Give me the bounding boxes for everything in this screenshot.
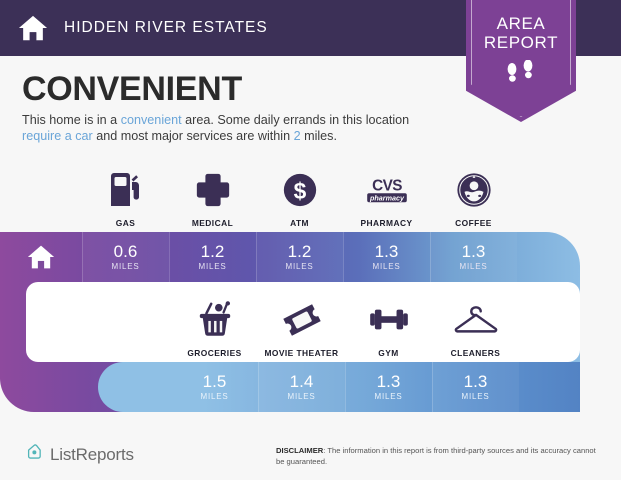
distance-unit: MILES [200,392,228,401]
property-title: HIDDEN RIVER ESTATES [64,19,268,37]
distance-value: 1.3 [377,373,401,391]
svg-text:pharmacy: pharmacy [369,193,405,202]
subtitle-part-4: miles. [301,129,337,143]
category-groceries: GROCERIES [171,296,258,358]
row2-icon-strip: GROCERIES MOVIE THEATER GYM [171,296,519,358]
atm-dollar-icon: $ [281,168,319,212]
subtitle-highlight-require-a-car: require a car [22,129,93,143]
subtitle-part-3: and most major services are within [93,129,294,143]
distance-value: 1.2 [288,243,312,261]
subtitle-text: This home is in a convenient area. Some … [22,112,442,144]
gas-pump-icon [107,168,145,212]
cvs-pharmacy-icon: CVS pharmacy [360,168,414,212]
disclaimer-text: : The information in this report is from… [276,446,596,466]
distance-value: 1.3 [464,373,488,391]
distance-cell-groceries: 1.5 MILES [171,362,258,412]
category-label: PHARMACY [361,218,413,228]
footprints-icon [466,60,576,91]
area-report-badge: AREA REPORT [466,0,576,122]
distance-unit: MILES [285,262,313,271]
category-coffee: COFFEE [430,160,517,228]
badge-line-1: AREA [466,14,576,33]
distance-value: 1.2 [201,243,225,261]
house-icon [27,243,55,271]
category-atm: $ ATM [256,160,343,228]
category-gym: GYM [345,296,432,358]
distance-cell-coffee: 1.3 MILES [430,232,517,282]
row1-distance-band: 0.6 MILES 1.2 MILES 1.2 MILES 1.3 MILES … [0,232,518,282]
disclaimer-label: DISCLAIMER [276,446,323,455]
starbucks-coffee-icon [455,168,493,212]
subtitle-part-2: area. Some daily errands in this locatio… [182,113,410,127]
distance-unit: MILES [198,262,226,271]
subtitle-part-1: This home is in a [22,113,121,127]
distance-unit: MILES [287,392,315,401]
category-label: GYM [378,348,398,358]
distance-value: 1.3 [375,243,399,261]
distance-value: 1.4 [290,373,314,391]
distance-cell-atm: 1.2 MILES [256,232,343,282]
subtitle-highlight-miles-number: 2 [294,129,301,143]
distance-unit: MILES [461,392,489,401]
distance-cell-movie-theater: 1.4 MILES [258,362,345,412]
distance-unit: MILES [111,262,139,271]
category-label: CLEANERS [451,348,501,358]
listreports-logo: ListReports [24,442,134,467]
distance-value: 1.3 [462,243,486,261]
category-label: GROCERIES [187,348,241,358]
distance-unit: MILES [374,392,402,401]
distance-cell-gym: 1.3 MILES [345,362,432,412]
category-medical: MEDICAL [169,160,256,228]
distance-cell-pharmacy: 1.3 MILES [343,232,430,282]
category-label: ATM [290,218,309,228]
distance-cell-gas: 0.6 MILES [82,232,169,282]
row2-distance-band: 1.5 MILES 1.4 MILES 1.3 MILES 1.3 MILES [171,362,519,412]
page-title: CONVENIENT [22,70,242,109]
distance-cell-medical: 1.2 MILES [169,232,256,282]
category-label: MOVIE THEATER [264,348,338,358]
distance-cell-cleaners: 1.3 MILES [432,362,519,412]
disclaimer: DISCLAIMER: The information in this repo… [276,446,596,467]
dumbbell-icon [367,298,411,342]
row1-icon-strip: GAS MEDICAL $ ATM CVS pharmacy PHARMACY [82,160,518,228]
category-movie-theater: MOVIE THEATER [258,296,345,358]
category-label: COFFEE [455,218,492,228]
category-gas: GAS [82,160,169,228]
svg-text:CVS: CVS [372,177,402,194]
subtitle-highlight-convenient: convenient [121,113,182,127]
category-label: MEDICAL [192,218,233,228]
listreports-logo-icon [24,442,44,467]
category-pharmacy: CVS pharmacy PHARMACY [343,160,430,228]
movie-ticket-icon [281,298,323,342]
medical-cross-icon [194,168,232,212]
distance-value: 0.6 [114,243,138,261]
distance-unit: MILES [459,262,487,271]
distance-value: 1.5 [203,373,227,391]
svg-text:$: $ [293,178,306,204]
clothes-hanger-icon [453,298,499,342]
house-icon [18,13,48,43]
home-origin-cell [0,232,82,282]
listreports-logo-text: ListReports [50,445,134,465]
distance-unit: MILES [372,262,400,271]
category-cleaners: CLEANERS [432,296,519,358]
grocery-basket-icon [194,298,236,342]
badge-line-2: REPORT [466,33,576,52]
category-label: GAS [116,218,136,228]
